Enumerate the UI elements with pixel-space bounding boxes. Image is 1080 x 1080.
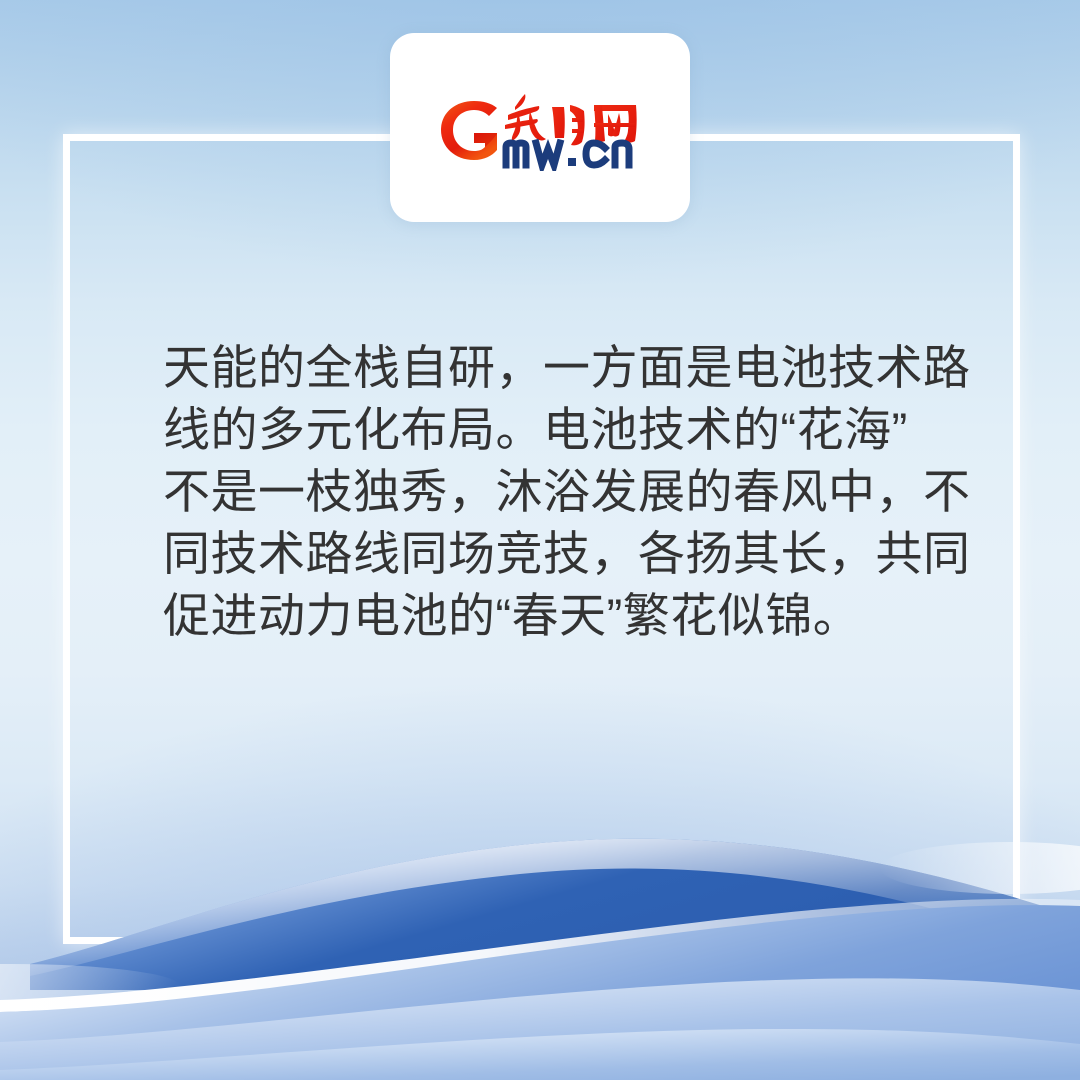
brand-logo [422, 85, 658, 171]
quote-text-block: 天能的全栈自研，一方面是电池技术路 线的多元化布局。电池技术的“花海” 不是一枝… [163, 337, 947, 647]
poster-canvas: 天能的全栈自研，一方面是电池技术路 线的多元化布局。电池技术的“花海” 不是一枝… [0, 0, 1080, 1080]
brand-domain-text [506, 143, 629, 165]
quote-line: 天能的全栈自研，一方面是电池技术路 [163, 337, 947, 399]
quote-line: 不是一枝独秀，沐浴发展的春风中，不 [163, 461, 947, 523]
brand-chinese-name-calligraphy [505, 94, 637, 145]
quote-line: 线的多元化布局。电池技术的“花海” [163, 399, 947, 461]
quote-line: 促进动力电池的“春天”繁花似锦。 [163, 585, 947, 647]
brand-logo-card[interactable] [390, 33, 690, 222]
brand-letter-g-icon [441, 101, 497, 160]
decorative-wave-graphic [0, 750, 1080, 1080]
brand-domain-dot [568, 158, 576, 166]
quote-line: 同技术路线同场竞技，各扬其长，共同 [163, 523, 947, 585]
